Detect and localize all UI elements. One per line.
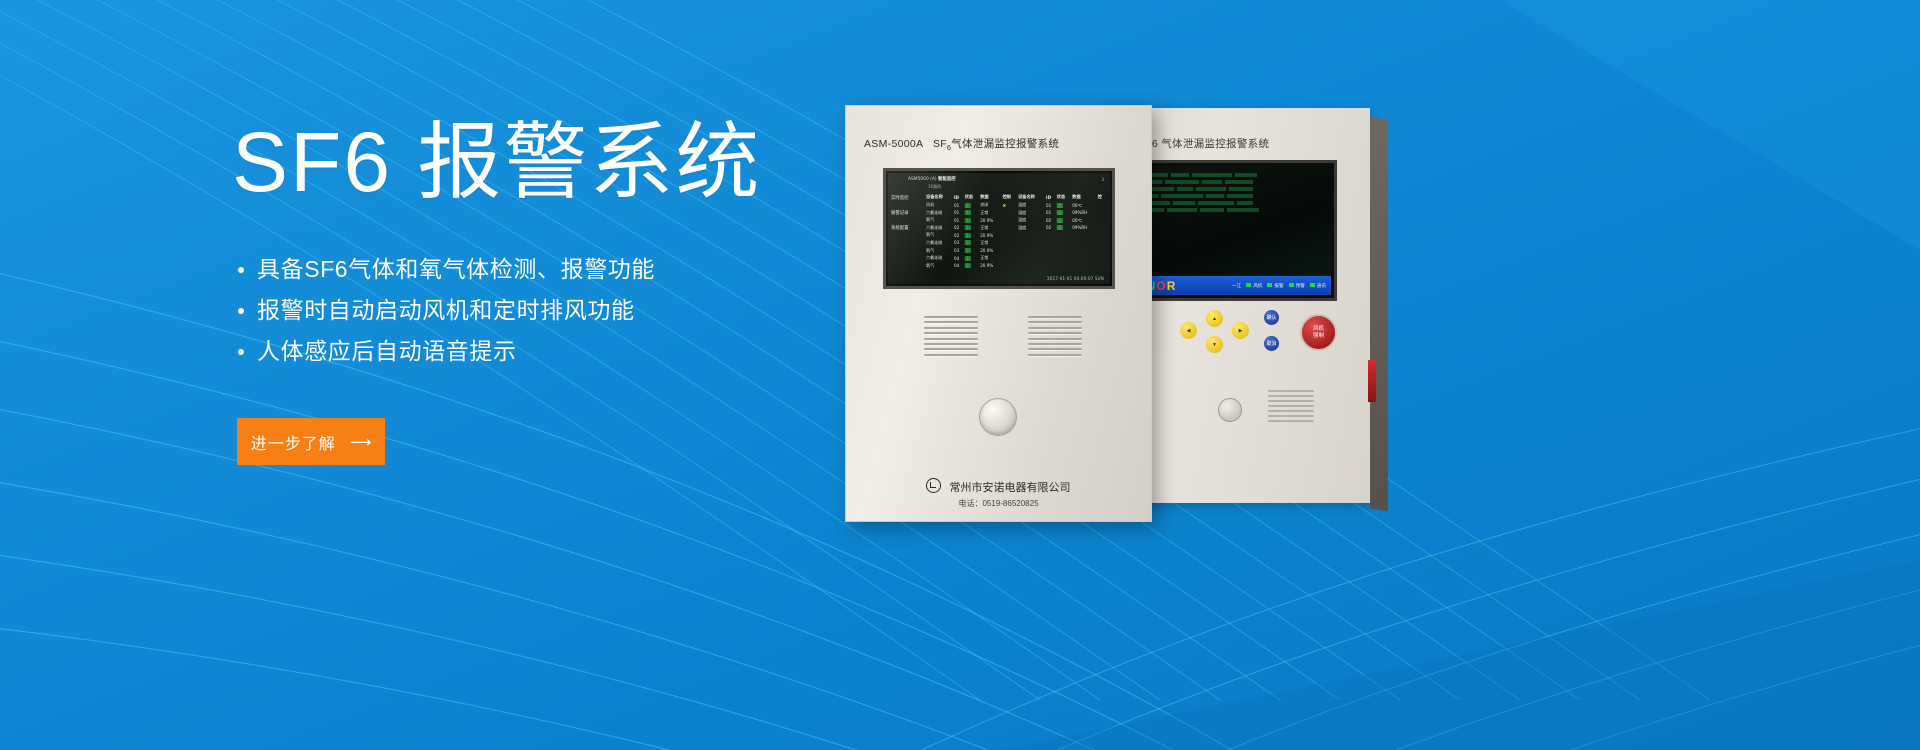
lcd-subtitle: 16路网 bbox=[928, 184, 941, 190]
learn-more-label: 进一步了解 bbox=[251, 430, 336, 454]
lcd-nav-item-alarm-log[interactable]: 报警记录 bbox=[891, 210, 925, 216]
led-indicator-icon bbox=[1289, 283, 1294, 287]
lcd-nav-item-realtime[interactable]: 实时监控 bbox=[891, 195, 925, 201]
table-header-row: 设备名称 ID 状态 数据 控制 设备名称 ID 状态 数据 控 bbox=[926, 194, 1107, 202]
legend-item: 通讯 bbox=[1310, 283, 1326, 289]
device-front-model-label: ASM-5000A SF6气体泄漏监控报警系统 bbox=[864, 136, 1059, 152]
lcd-timestamp: 2017-01-01 00:00:07 SUN bbox=[1047, 276, 1104, 281]
bullet-dot-icon bbox=[238, 349, 244, 355]
lcd-nav-item-system-config[interactable]: 系统配置 bbox=[891, 225, 925, 231]
lcd-nav-menu: 实时监控 报警记录 系统配置 bbox=[891, 195, 925, 240]
device-front-unit: ASM-5000A SF6气体泄漏监控报警系统 ASM5000 (A) 智能监控… bbox=[845, 105, 1152, 522]
bullet-dot-icon bbox=[238, 267, 244, 273]
device-rear-legend: 一江 风机 报警 预警 通讯 bbox=[1232, 283, 1326, 289]
company-logo-icon bbox=[926, 478, 941, 493]
arrow-up-button[interactable]: ▲ bbox=[1206, 310, 1223, 327]
feature-text: 具备SF6气体和氧气体检测、报警功能 bbox=[257, 258, 655, 281]
lcd-header: ASM5000 (A) 智能监控 bbox=[908, 176, 956, 182]
device-front-lcd-screen[interactable]: ASM5000 (A) 智能监控 16路网 3 实时监控 报警记录 系统配置 bbox=[883, 168, 1115, 289]
legend-item: 风机 bbox=[1246, 283, 1262, 289]
feature-text: 报警时自动启动风机和定时排风功能 bbox=[257, 299, 635, 322]
led-indicator-icon bbox=[1310, 283, 1315, 287]
device-rear-screen-rows bbox=[1138, 173, 1325, 215]
led-indicator-icon bbox=[1246, 283, 1251, 287]
feature-text: 人体感应后自动语音提示 bbox=[257, 340, 517, 363]
led-indicator-icon bbox=[1267, 283, 1272, 287]
table-row: 氧气 01 ▒▒ 20.9% 温度 02 ▒▒ 00℃ bbox=[926, 217, 1107, 225]
learn-more-button[interactable]: 进一步了解 ⟶ bbox=[237, 418, 385, 465]
lcd-page-number: 3 bbox=[1101, 177, 1104, 182]
table-row: 六氟化硫 03 ▒▒ 正常 bbox=[926, 240, 1107, 248]
cancel-button[interactable]: 取消 bbox=[1264, 336, 1279, 351]
motion-sensor-dome bbox=[979, 398, 1017, 436]
hero-banner: SF6 报警系统 具备SF6气体和氧气体检测、报警功能 报警时自动启动风机和定时… bbox=[0, 0, 1920, 750]
company-name: 常州市安诺电器有限公司 bbox=[846, 478, 1151, 495]
company-phone: 电话：0519-86520825 bbox=[846, 498, 1151, 509]
arrow-right-button[interactable]: ▶ bbox=[1232, 322, 1249, 339]
table-row: 六氟化硫 04 ▒▒ 正常 bbox=[926, 255, 1107, 263]
device-rear-speaker-vent bbox=[1268, 390, 1314, 428]
speaker-vent-left bbox=[924, 316, 978, 362]
bullet-dot-icon bbox=[238, 308, 244, 314]
lcd-content: ASM5000 (A) 智能监控 16路网 3 实时监控 报警记录 系统配置 bbox=[888, 173, 1110, 284]
device-rear-red-indicator bbox=[1368, 360, 1376, 402]
table-row: 六氟化硫 01 ▒▒ 正常 湿度 01 ▒▒ 09%RH bbox=[926, 210, 1107, 218]
legend-item: 报警 bbox=[1267, 283, 1283, 289]
table-row: 风机 01 ▒▒ 关闭 ✖ 温度 01 ▒▒ 00℃ bbox=[926, 202, 1107, 210]
table-row: 六氟化硫 02 ▒▒ 正常 湿度 02 ▒▒ 09%RH bbox=[926, 225, 1107, 233]
table-row: 氧气 03 ▒▒ 20.9% bbox=[926, 248, 1107, 256]
table-row: 氧气 02 ▒▒ 20.9% bbox=[926, 232, 1107, 240]
arrow-right-icon: ⟶ bbox=[350, 433, 372, 451]
arrow-left-button[interactable]: ◀ bbox=[1180, 322, 1197, 339]
device-rear-status-bar: ANOR 一江 风机 报警 预警 通讯 bbox=[1132, 276, 1331, 295]
device-rear-screen: ANOR 一江 风机 报警 预警 通讯 bbox=[1126, 160, 1337, 301]
legend-item: 预警 bbox=[1289, 283, 1305, 289]
arrow-down-button[interactable]: ▼ bbox=[1206, 336, 1223, 353]
fan-force-button[interactable]: 风机强制 bbox=[1300, 314, 1337, 351]
product-photo: 0 B SF6 气体泄漏监控报警系统 ANOR 一江 bbox=[845, 80, 1875, 720]
table-row: 氧气 04 ▒▒ 20.9% bbox=[926, 263, 1107, 271]
speaker-vent-right bbox=[1028, 316, 1082, 362]
confirm-button[interactable]: 确认 bbox=[1264, 310, 1279, 325]
lcd-data-table: 设备名称 ID 状态 数据 控制 设备名称 ID 状态 数据 控 bbox=[926, 194, 1107, 270]
device-rear-side-panel bbox=[1370, 116, 1388, 511]
device-rear-sensor-dome bbox=[1218, 398, 1242, 422]
device-rear-keypad: − + ◀ ▲ ▼ ▶ 确认 取消 风机强制 bbox=[1130, 308, 1330, 360]
legend-prefix: 一江 bbox=[1232, 283, 1241, 289]
